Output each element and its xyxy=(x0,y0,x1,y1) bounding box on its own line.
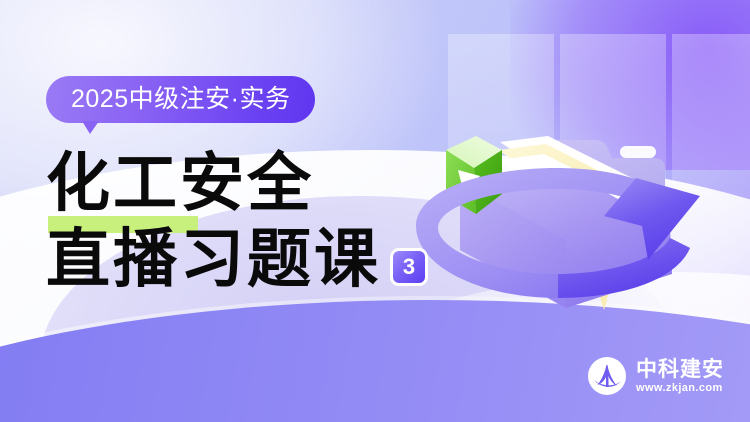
page-title-line-2: 直播习题课 xyxy=(46,228,381,292)
brand-url: www.zkjan.com xyxy=(636,383,724,394)
title-row-2: 直播习题课 3 xyxy=(46,228,428,292)
badge-tail xyxy=(82,121,99,134)
brand-text: 中科建安 www.zkjan.com xyxy=(636,359,724,394)
course-category-label: 2025中级注安·实务 xyxy=(46,76,315,123)
page-title-line-1: 化工安全 xyxy=(46,152,314,216)
episode-number-badge: 3 xyxy=(390,248,428,286)
course-banner: 2025中级注安·实务 化工安全 直播习题课 3 中科 xyxy=(0,0,750,422)
course-category-badge: 2025中级注安·实务 xyxy=(46,76,315,123)
brand-name: 中科建安 xyxy=(636,359,724,380)
brand-logo[interactable]: 中科建安 www.zkjan.com xyxy=(587,356,724,396)
banner-content: 2025中级注安·实务 化工安全 直播习题课 3 中科 xyxy=(0,0,750,422)
title-row-1: 化工安全 xyxy=(46,152,428,216)
brand-mark-icon xyxy=(587,356,627,396)
title-block: 化工安全 直播习题课 3 xyxy=(46,152,428,292)
